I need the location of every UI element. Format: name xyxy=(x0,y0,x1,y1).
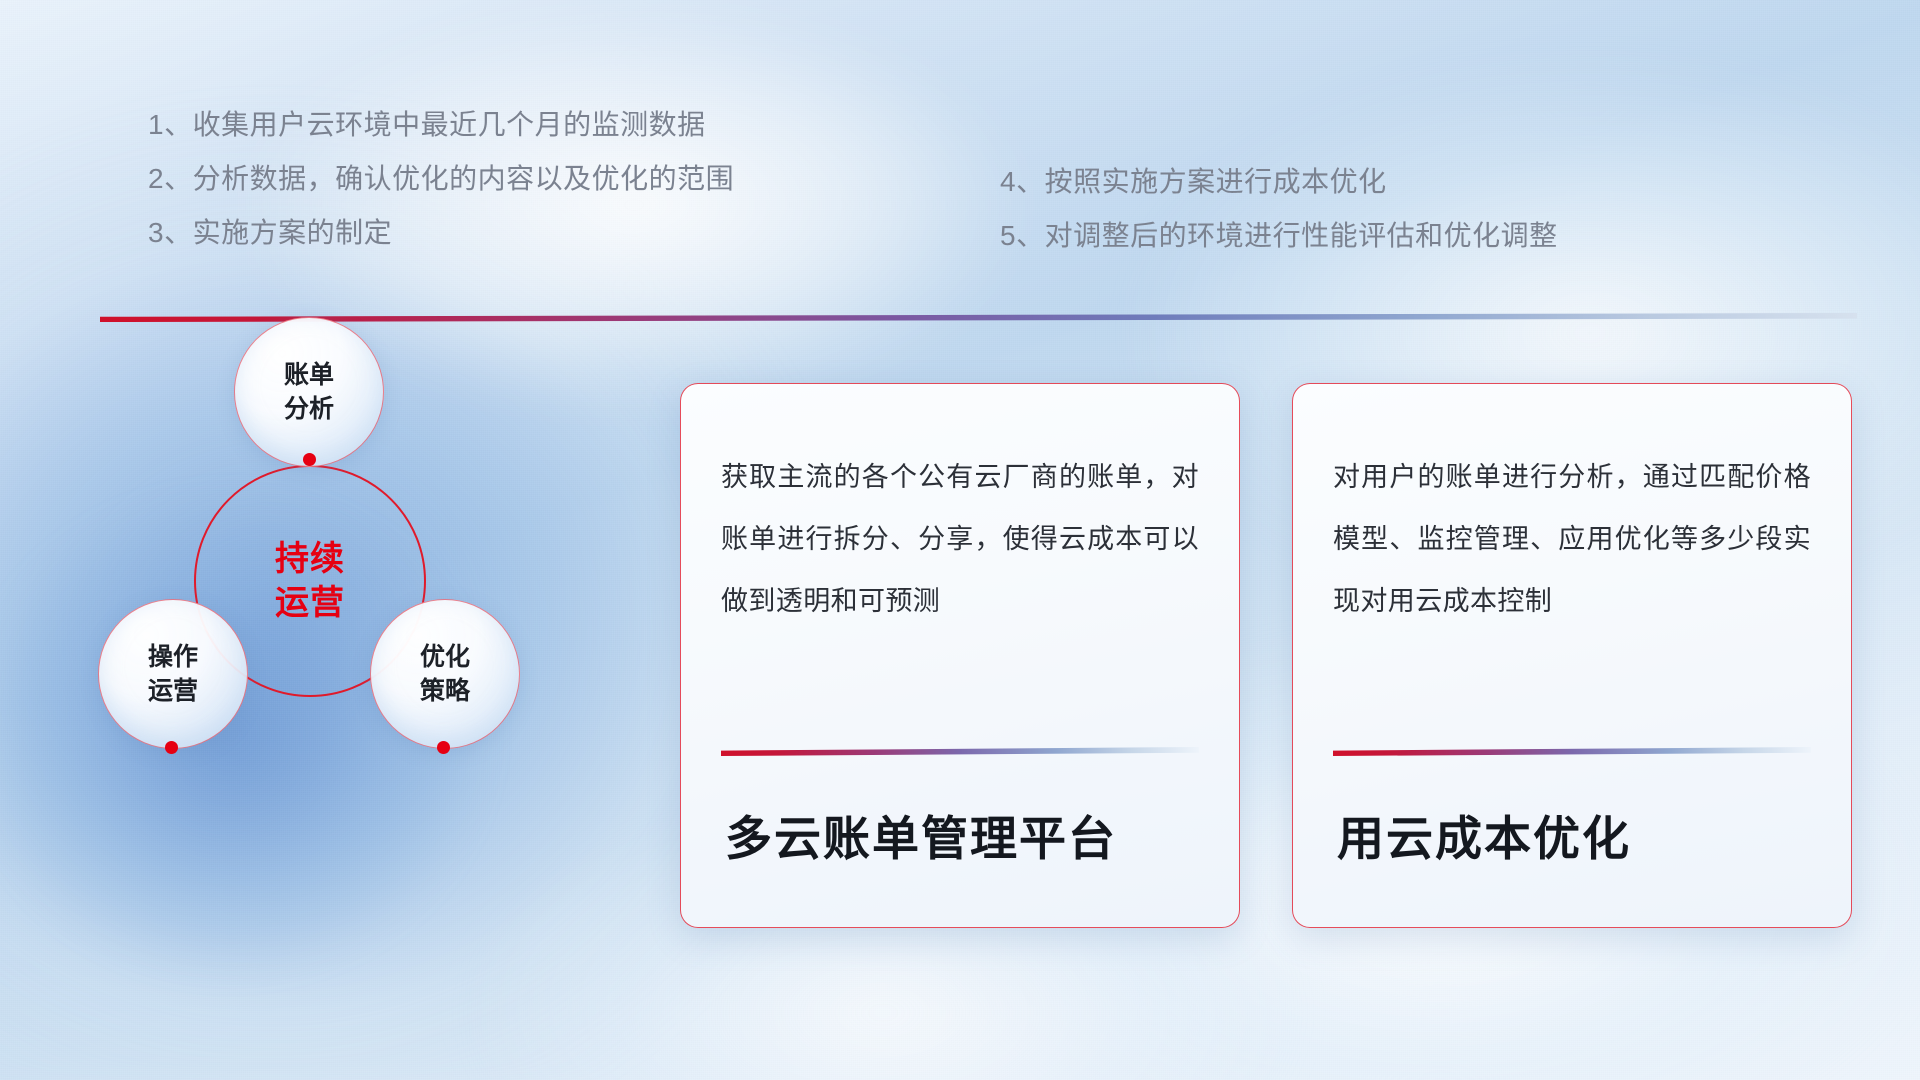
step-item-3: 3、实施方案的制定 xyxy=(148,206,734,260)
venn-connector-dot-left xyxy=(165,741,178,754)
card-title: 用云成本优化 xyxy=(1337,800,1811,927)
venn-center-line-1: 持续 xyxy=(275,537,345,581)
step-item-5: 5、对调整后的环境进行性能评估和优化调整 xyxy=(1000,209,1558,263)
card-cloud-cost-optimization[interactable]: 对用户的账单进行分析，通过匹配价格模型、监控管理、应用优化等多少段实现对用云成本… xyxy=(1292,383,1852,928)
venn-center-line-2: 运营 xyxy=(275,581,345,625)
slide-content: 1、收集用户云环境中最近几个月的监测数据 2、分析数据，确认优化的内容以及优化的… xyxy=(0,0,1920,1080)
card-multi-cloud-billing-platform[interactable]: 获取主流的各个公有云厂商的账单，对账单进行拆分、分享，使得云成本可以做到透明和可… xyxy=(680,383,1240,928)
card-title: 多云账单管理平台 xyxy=(725,800,1199,927)
venn-bubble-line-2: 分析 xyxy=(284,392,334,426)
steps-right-column: 4、按照实施方案进行成本优化 5、对调整后的环境进行性能评估和优化调整 xyxy=(1000,155,1558,263)
venn-diagram: 持续 运营 账单 分析 操作 运营 优化 策略 xyxy=(88,355,558,775)
venn-bubble-billing-analysis[interactable]: 账单 分析 xyxy=(234,317,384,467)
card-divider xyxy=(721,747,1199,756)
venn-bubble-optimization-strategy[interactable]: 优化 策略 xyxy=(370,599,520,749)
card-body-text: 对用户的账单进行分析，通过匹配价格模型、监控管理、应用优化等多少段实现对用云成本… xyxy=(1333,446,1811,632)
venn-bubble-line-2: 策略 xyxy=(420,674,470,708)
card-divider xyxy=(1333,747,1811,756)
steps-left-column: 1、收集用户云环境中最近几个月的监测数据 2、分析数据，确认优化的内容以及优化的… xyxy=(148,98,734,260)
venn-connector-dot-right xyxy=(437,741,450,754)
section-divider xyxy=(100,313,1857,322)
venn-bubble-line-1: 操作 xyxy=(148,640,198,674)
step-item-4: 4、按照实施方案进行成本优化 xyxy=(1000,155,1558,209)
venn-bubble-line-1: 账单 xyxy=(284,358,334,392)
card-body-text: 获取主流的各个公有云厂商的账单，对账单进行拆分、分享，使得云成本可以做到透明和可… xyxy=(721,446,1199,632)
step-item-2: 2、分析数据，确认优化的内容以及优化的范围 xyxy=(148,152,734,206)
venn-connector-dot-top xyxy=(303,453,316,466)
venn-bubble-line-2: 运营 xyxy=(148,674,198,708)
venn-bubble-line-1: 优化 xyxy=(420,640,470,674)
step-item-1: 1、收集用户云环境中最近几个月的监测数据 xyxy=(148,98,734,152)
venn-bubble-operations[interactable]: 操作 运营 xyxy=(98,599,248,749)
